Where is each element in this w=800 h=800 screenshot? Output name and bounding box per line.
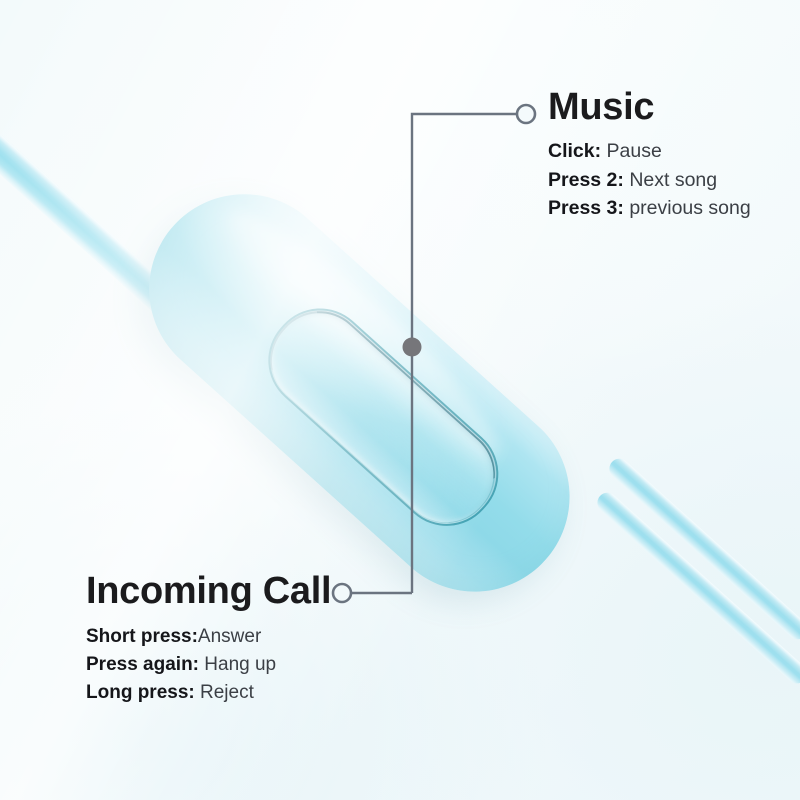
- callout-incoming-call-line-value: Hang up: [204, 654, 276, 675]
- callout-incoming-call-line-label: Long press:: [86, 682, 195, 703]
- callout-music-line-label: Press 2:: [548, 169, 624, 191]
- callout-music-line-label: Press 3:: [548, 197, 624, 219]
- callout-music-lines: Click: Pause Press 2: Next song Press 3:…: [548, 137, 751, 223]
- callout-incoming-call-line-label: Short press:: [86, 626, 198, 647]
- product-infographic: Music Click: Pause Press 2: Next song Pr…: [0, 0, 800, 800]
- callout-incoming-call-lines: Short press:Answer Press again: Hang up …: [86, 623, 331, 707]
- callout-music-line-value: previous song: [629, 197, 750, 219]
- callout-music-line: Click: Pause: [548, 137, 751, 166]
- callout-music-line-label: Click:: [548, 140, 601, 162]
- callout-music-line-value: Pause: [607, 140, 662, 162]
- callout-music-line-value: Next song: [629, 169, 717, 191]
- callout-incoming-call-title: Incoming Call: [86, 572, 331, 610]
- callout-incoming-call: Incoming Call Short press:Answer Press a…: [86, 572, 331, 707]
- callout-incoming-call-line: Press again: Hang up: [86, 651, 331, 679]
- callout-music-title: Music: [548, 88, 751, 126]
- callout-incoming-call-line: Short press:Answer: [86, 623, 331, 651]
- callout-incoming-call-line-value: Reject: [200, 682, 254, 703]
- callout-music-line: Press 2: Next song: [548, 166, 751, 195]
- callout-music: Music Click: Pause Press 2: Next song Pr…: [548, 88, 751, 223]
- callout-incoming-call-line-label: Press again:: [86, 654, 199, 675]
- callout-incoming-call-line-value: Answer: [198, 626, 261, 647]
- callout-incoming-call-line: Long press: Reject: [86, 679, 331, 707]
- callout-music-line: Press 3: previous song: [548, 194, 751, 223]
